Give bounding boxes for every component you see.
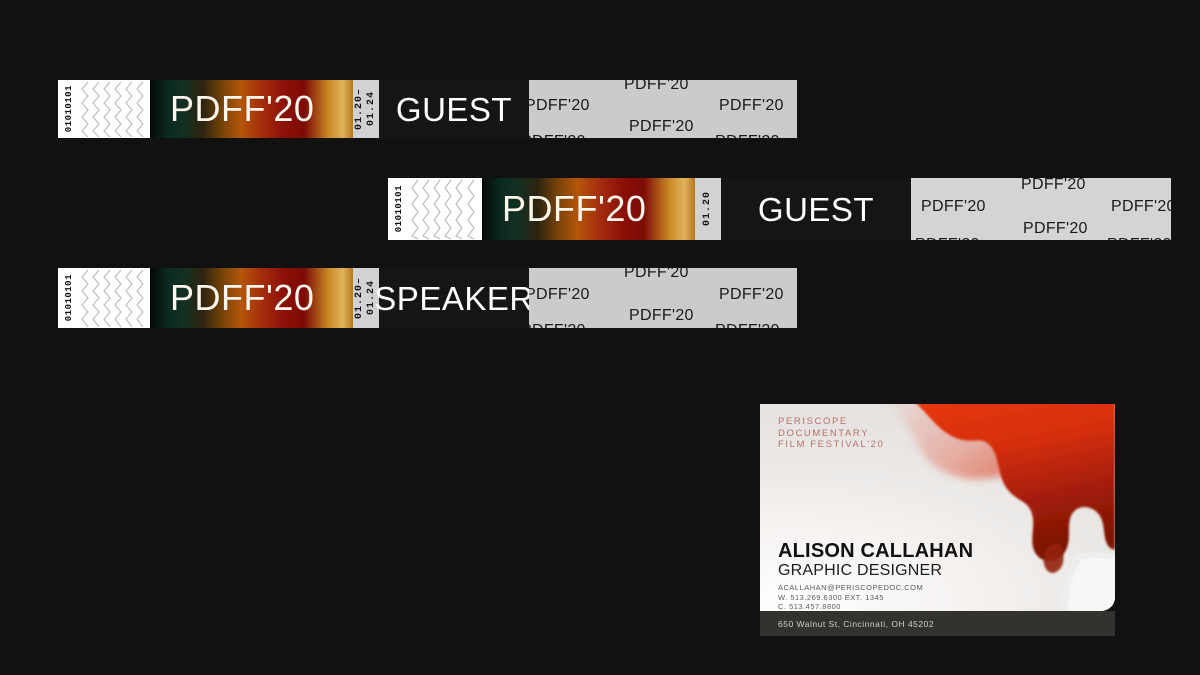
business-card: PERISCOPE DOCUMENTARY FILM FESTIVAL'20 A… [760,404,1115,636]
pattern-text: PDFF'20 [624,268,689,282]
card-contact-details: ACALLAHAN@PERISCOPEDOC.COM W. 513.269.63… [778,583,923,611]
pattern-text: PDFF'20 [529,133,586,138]
badge-gradient-panel: PDFF'20 [150,80,353,138]
badge-date-strip: 01.20– 01.24 [353,268,379,328]
card-address-bar: 650 Walnut St, Cincinnati, OH 45202 [760,611,1115,636]
badge-dates: 01.20 [702,191,714,226]
business-card-face: PERISCOPE DOCUMENTARY FILM FESTIVAL'20 A… [760,404,1115,611]
zigzag-pattern-icon [80,80,150,138]
badge-dates: 01.20– 01.24 [354,277,378,319]
badge-dates: 01.20– 01.24 [354,88,378,130]
badge-pattern-panel: PDFF'20 PDFF'20 PDFF'20 PDFF'20 PDFF'20 … [911,178,1171,240]
badge-gradient-panel: PDFF'20 [150,268,353,328]
badge-role-block: GUEST [379,80,529,138]
card-address: 650 Walnut St, Cincinnati, OH 45202 [760,619,934,629]
card-phone-work: W. 513.269.6300 EXT. 1345 [778,593,923,603]
pattern-text: PDFF'20 [1023,220,1088,238]
badge-speaker: 01010101 PDFF'20 01.20– 01.24 SPEAKER PD… [58,268,797,328]
pattern-text: PDFF'20 [529,97,590,115]
badge-guest-primary: 01010101 PDFF'20 01.20– 01.24 GUEST PDFF… [58,80,797,138]
badge-binary-block: 01010101 [58,80,80,138]
card-person-name: ALISON CALLAHAN [778,540,973,563]
pattern-text: PDFF'20 [915,236,980,240]
design-portfolio-canvas: { "canvas": { "background": "#111111" },… [0,0,1200,675]
card-phone-cell: C. 513.457.8800 [778,602,923,611]
card-email: ACALLAHAN@PERISCOPEDOC.COM [778,583,923,593]
badge-date-strip: 01.20 [695,178,721,240]
badge-role-label: SPEAKER [374,282,533,315]
pattern-text: PDFF'20 [715,133,780,138]
badge-role-label: GUEST [396,93,512,126]
pattern-text: PDFF'20 [629,307,694,325]
badge-role-block: SPEAKER [379,268,529,328]
badge-guest-secondary: 01010101 PDFF'20 01.20 GUEST PDFF'20 PDF… [388,178,1171,240]
badge-wordmark: PDFF'20 [150,91,314,127]
pattern-text: PDFF'20 [529,286,590,304]
pattern-text: PDFF'20 [1111,198,1171,216]
pattern-text: PDFF'20 [629,118,694,136]
pattern-text: PDFF'20 [719,286,784,304]
pattern-text: PDFF'20 [1107,236,1171,240]
pattern-text: PDFF'20 [529,322,586,328]
badge-pattern-panel: PDFF'20 PDFF'20 PDFF'20 PDFF'20 PDFF'20 … [529,268,797,328]
badge-binary-block: 01010101 [388,178,410,240]
pattern-text: PDFF'20 [715,322,780,328]
badge-role-label: GUEST [758,193,874,226]
badge-binary-code: 01010101 [394,185,404,232]
badge-wordmark: PDFF'20 [150,280,314,316]
badge-binary-block: 01010101 [58,268,80,328]
pattern-text: PDFF'20 [719,97,784,115]
badge-binary-code: 01010101 [64,274,74,321]
zigzag-pattern-icon [410,178,482,240]
pattern-text: PDFF'20 [921,198,986,216]
badge-role-block: GUEST [721,178,911,240]
card-festival-logo: PERISCOPE DOCUMENTARY FILM FESTIVAL'20 [778,416,884,451]
pattern-text: PDFF'20 [1021,178,1086,194]
badge-date-strip: 01.20– 01.24 [353,80,379,138]
card-person-title: GRAPHIC DESIGNER [778,562,942,580]
zigzag-pattern-icon [80,268,150,328]
badge-pattern-panel: PDFF'20 PDFF'20 PDFF'20 PDFF'20 PDFF'20 … [529,80,797,138]
badge-binary-code: 01010101 [64,85,74,132]
badge-wordmark: PDFF'20 [482,191,646,227]
badge-gradient-panel: PDFF'20 [482,178,695,240]
pattern-text: PDFF'20 [624,80,689,94]
